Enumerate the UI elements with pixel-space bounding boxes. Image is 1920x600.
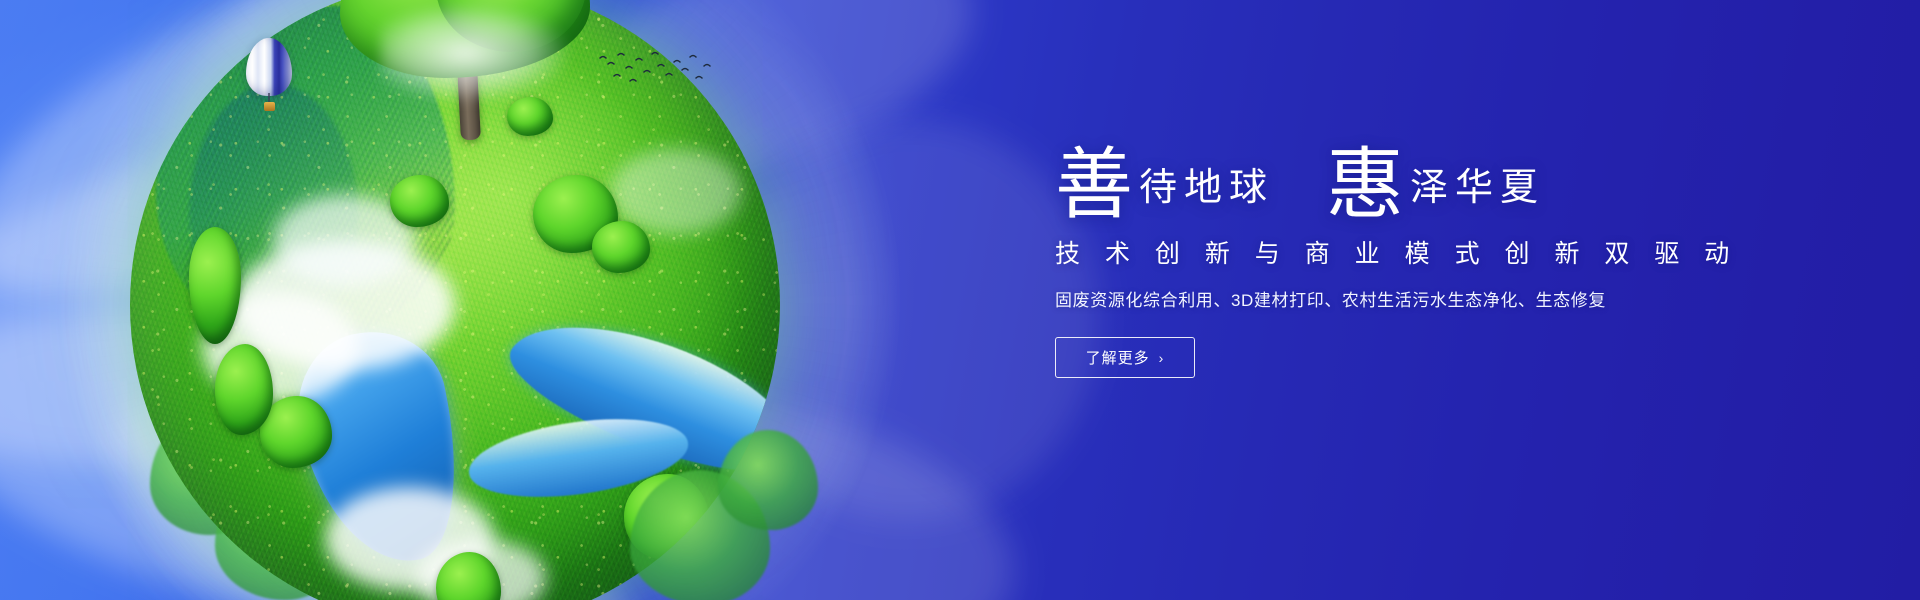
headline-phrase-1: 待地球	[1133, 168, 1274, 206]
hero-subtitle: 技 术 创 新 与 商 业 模 式 创 新 双 驱 动	[1055, 234, 1755, 270]
headline-phrase-2: 泽华夏	[1404, 168, 1545, 206]
learn-more-button[interactable]: 了解更多 ›	[1055, 337, 1195, 378]
page-title: 善 待地球 惠 泽华夏	[1055, 140, 1755, 218]
bush-cluster	[592, 221, 651, 273]
balloon-envelope	[246, 38, 292, 96]
globe-cloud	[611, 149, 741, 234]
learn-more-label: 了解更多	[1086, 347, 1150, 368]
balloon-basket	[264, 102, 275, 111]
crown-tree	[340, 0, 590, 138]
chevron-right-icon: ›	[1159, 350, 1165, 366]
tree-mist	[380, 3, 570, 103]
hero-copy: 善 待地球 惠 泽华夏 技 术 创 新 与 商 业 模 式 创 新 双 驱 动 …	[1055, 140, 1755, 378]
hero-description: 固废资源化综合利用、3D建材打印、农村生活污水生态净化、生态修复	[1055, 286, 1755, 311]
hero-banner: 善 待地球 惠 泽华夏 技 术 创 新 与 商 业 模 式 创 新 双 驱 动 …	[0, 0, 1920, 600]
hot-air-balloon-icon	[246, 38, 292, 116]
bush-cluster	[390, 175, 449, 227]
foreground-tree	[718, 430, 818, 530]
headline-char-2: 惠	[1326, 146, 1404, 224]
bird-flock-icon	[596, 48, 716, 94]
bush-cluster	[215, 344, 274, 435]
headline-char-1: 善	[1055, 146, 1133, 224]
